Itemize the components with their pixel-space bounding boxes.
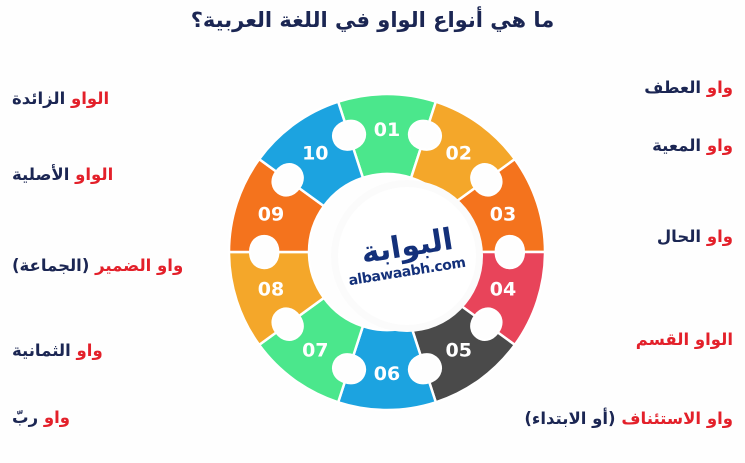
wheel-segment-number-06: 06: [374, 363, 400, 385]
wheel-segment-number-02: 02: [445, 142, 471, 164]
label-rest: الثمانية: [12, 341, 71, 360]
label-waw-rubba: واو ربّ: [0, 408, 70, 428]
label-rest: (الجماعة): [12, 256, 89, 275]
wheel-segment-number-04: 04: [490, 279, 516, 301]
label-highlight: الواو القسم: [636, 330, 733, 349]
wheel-segment-number-07: 07: [302, 340, 328, 362]
label-rest: المعية: [652, 136, 701, 155]
label-waw-aldamir: واو الضمير (الجماعة): [0, 256, 183, 276]
wheel-segment-number-08: 08: [258, 279, 284, 301]
label-rest: الزائدة: [12, 89, 65, 108]
label-highlight: واو: [707, 78, 733, 97]
label-highlight: واو: [707, 227, 733, 246]
label-alwaw-alasliya: الواو الأصلية: [0, 165, 113, 185]
page-title: ما هي أنواع الواو في اللغة العربية؟: [0, 6, 745, 34]
label-waw-alhal: واو الحال: [657, 227, 745, 247]
wheel-segment-number-01: 01: [374, 119, 400, 141]
label-rest: ربّ: [12, 408, 38, 427]
wheel-segment-number-09: 09: [258, 203, 284, 225]
label-rest: الحال: [657, 227, 701, 246]
label-rest: الأصلية: [12, 165, 69, 184]
wheel-segment-number-03: 03: [490, 203, 516, 225]
label-alwaw-alqasam: الواو القسم: [636, 330, 745, 350]
label-highlight: واو: [77, 341, 103, 360]
label-waw-almaiya: واو المعية: [652, 136, 745, 156]
label-highlight: واو الضمير: [95, 256, 183, 275]
label-alwaw-alzaida: الواو الزائدة: [0, 89, 109, 109]
wheel-segment-number-10: 10: [302, 142, 328, 164]
label-highlight: واو: [707, 136, 733, 155]
wheel-segment-number-05: 05: [445, 340, 471, 362]
label-rest: (أو الابتداء): [524, 409, 615, 428]
label-highlight: الواو: [71, 89, 109, 108]
label-highlight: الواو: [75, 165, 113, 184]
label-highlight: واو: [44, 408, 70, 427]
label-waw-alistinaf: واو الاستئناف (أو الابتداء): [524, 409, 745, 429]
label-highlight: واو الاستئناف: [621, 409, 733, 428]
label-rest: العطف: [644, 78, 701, 97]
brand-logo: البوابة albawaabh.com: [338, 187, 476, 325]
label-waw-alatf: واو العطف: [644, 78, 745, 98]
label-waw-althumaniya: واو الثمانية: [0, 341, 103, 361]
